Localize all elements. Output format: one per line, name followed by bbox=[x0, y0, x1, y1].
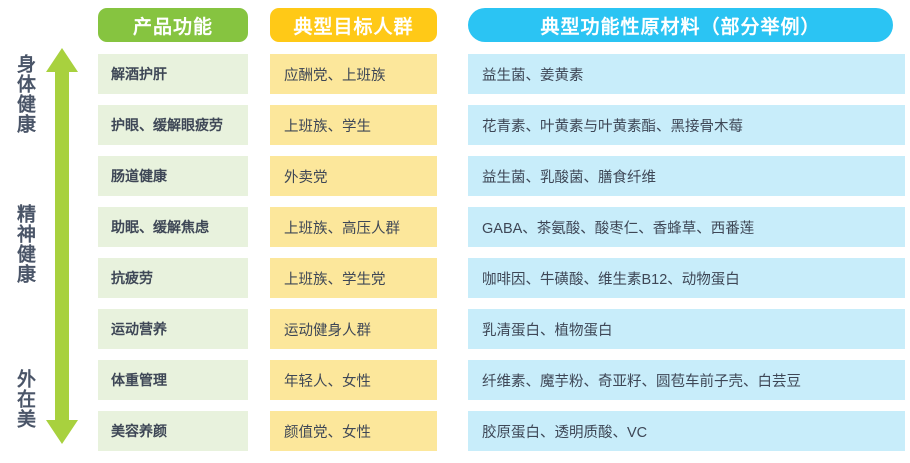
table-row: 应酬党、上班族 bbox=[270, 54, 437, 94]
table-row: 抗疲劳 bbox=[98, 258, 248, 298]
table-row: 助眠、缓解焦虑 bbox=[98, 207, 248, 247]
table-row: 外卖党 bbox=[270, 156, 437, 196]
table-row: 运动健身人群 bbox=[270, 309, 437, 349]
table-row: 益生菌、乳酸菌、膳食纤维 bbox=[468, 156, 905, 196]
table-row: 肠道健康 bbox=[98, 156, 248, 196]
table-row: 运动营养 bbox=[98, 309, 248, 349]
table-row: 咖啡因、牛磺酸、维生素B12、动物蛋白 bbox=[468, 258, 905, 298]
table-row: 上班族、学生 bbox=[270, 105, 437, 145]
matrix-table: 产品功能 典型目标人群 典型功能性原材料（部分举例） 解酒护肝 应酬党、上班族 … bbox=[0, 0, 910, 463]
column-header-function: 产品功能 bbox=[98, 8, 248, 42]
table-row: 乳清蛋白、植物蛋白 bbox=[468, 309, 905, 349]
table-row: 益生菌、姜黄素 bbox=[468, 54, 905, 94]
infographic-canvas: 身体健康 精神健康 外在美 产品功能 典型目标人群 典型功能性原材料（部分举例）… bbox=[0, 0, 910, 463]
table-row: GABA、茶氨酸、酸枣仁、香蜂草、西番莲 bbox=[468, 207, 905, 247]
table-row: 花青素、叶黄素与叶黄素酯、黑接骨木莓 bbox=[468, 105, 905, 145]
table-row: 年轻人、女性 bbox=[270, 360, 437, 400]
table-row: 上班族、学生党 bbox=[270, 258, 437, 298]
table-row: 美容养颜 bbox=[98, 411, 248, 451]
table-row: 颜值党、女性 bbox=[270, 411, 437, 451]
table-row: 体重管理 bbox=[98, 360, 248, 400]
column-header-ingredients: 典型功能性原材料（部分举例） bbox=[468, 8, 893, 42]
table-row: 上班族、高压人群 bbox=[270, 207, 437, 247]
table-row: 解酒护肝 bbox=[98, 54, 248, 94]
table-row: 护眼、缓解眼疲劳 bbox=[98, 105, 248, 145]
table-row: 纤维素、魔芋粉、奇亚籽、圆苞车前子壳、白芸豆 bbox=[468, 360, 905, 400]
table-row: 胶原蛋白、透明质酸、VC bbox=[468, 411, 905, 451]
column-header-audience: 典型目标人群 bbox=[270, 8, 437, 42]
